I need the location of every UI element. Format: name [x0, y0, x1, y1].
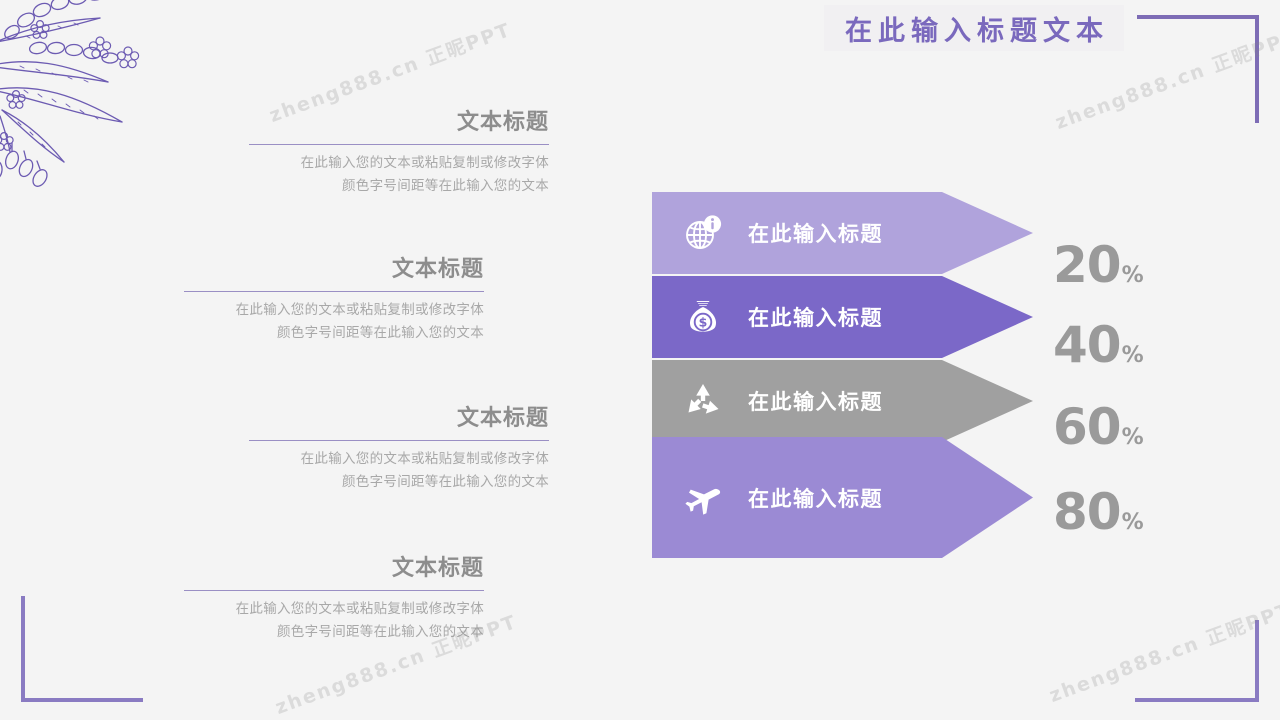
- percent-label-2: 40%: [1053, 316, 1144, 374]
- text-block-3: 文本标题 在此输入您的文本或粘贴复制或修改字体 颜色字号间距等在此输入您的文本: [249, 406, 549, 493]
- percent-label-1: 20%: [1053, 236, 1144, 294]
- text-block-3-line-1: 在此输入您的文本或粘贴复制或修改字体: [249, 448, 549, 470]
- text-block-2-title: 文本标题: [184, 257, 484, 283]
- recycle-icon: [680, 378, 726, 424]
- arrow-label-4: 在此输入标题: [748, 483, 883, 513]
- watermark-4: zheng888.cn 正昵PPT: [1045, 595, 1280, 708]
- text-block-4-divider: [184, 590, 484, 591]
- corner-bracket-top-right-vertical: [1255, 15, 1259, 123]
- money-bag-icon: $: [680, 294, 726, 340]
- corner-bracket-bottom-left-horizontal: [21, 698, 143, 702]
- page-title-container: 在此输入标题文本: [824, 5, 1124, 51]
- text-block-1: 文本标题 在此输入您的文本或粘贴复制或修改字体 颜色字号间距等在此输入您的文本: [249, 110, 549, 197]
- slide-canvas: 在此输入标题文本 文本标题 在此输入您的文本或粘贴复制或修改字体 颜色字号间距等…: [0, 0, 1280, 720]
- percent-value-2: 40: [1053, 316, 1121, 374]
- text-block-3-line-2: 颜色字号间距等在此输入您的文本: [249, 471, 549, 493]
- arrow-label-2: 在此输入标题: [748, 302, 883, 332]
- text-block-2-divider: [184, 291, 484, 292]
- floral-decoration-icon: [0, 0, 212, 200]
- percent-label-3: 60%: [1053, 398, 1144, 456]
- svg-text:$: $: [699, 315, 708, 330]
- arrow-row-4[interactable]: 在此输入标题: [652, 437, 1033, 558]
- text-block-1-line-1: 在此输入您的文本或粘贴复制或修改字体: [249, 152, 549, 174]
- text-block-4-line-1: 在此输入您的文本或粘贴复制或修改字体: [184, 598, 484, 620]
- percent-sign-2: %: [1122, 343, 1144, 368]
- text-block-2-line-1: 在此输入您的文本或粘贴复制或修改字体: [184, 299, 484, 321]
- percent-sign-3: %: [1122, 425, 1144, 450]
- globe-info-icon: [680, 210, 726, 256]
- percent-label-4: 80%: [1053, 483, 1144, 541]
- corner-bracket-bottom-right-vertical: [1255, 620, 1259, 702]
- text-block-4: 文本标题 在此输入您的文本或粘贴复制或修改字体 颜色字号间距等在此输入您的文本: [184, 556, 484, 643]
- text-block-4-line-2: 颜色字号间距等在此输入您的文本: [184, 621, 484, 643]
- arrow-row-3[interactable]: 在此输入标题: [652, 360, 1033, 442]
- text-block-1-line-2: 颜色字号间距等在此输入您的文本: [249, 175, 549, 197]
- text-block-2-line-2: 颜色字号间距等在此输入您的文本: [184, 322, 484, 344]
- percent-sign-4: %: [1122, 510, 1144, 535]
- airplane-icon: [680, 475, 726, 521]
- arrow-label-1: 在此输入标题: [748, 218, 883, 248]
- percent-value-1: 20: [1053, 236, 1121, 294]
- percent-value-4: 80: [1053, 483, 1121, 541]
- corner-bracket-bottom-left-vertical: [21, 596, 25, 702]
- corner-bracket-top-right-horizontal: [1137, 15, 1259, 19]
- text-block-1-divider: [249, 144, 549, 145]
- text-block-3-divider: [249, 440, 549, 441]
- text-block-2: 文本标题 在此输入您的文本或粘贴复制或修改字体 颜色字号间距等在此输入您的文本: [184, 257, 484, 344]
- corner-bracket-bottom-right-horizontal: [1135, 698, 1259, 702]
- arrow-row-2[interactable]: $ 在此输入标题: [652, 276, 1033, 358]
- text-block-1-title: 文本标题: [249, 110, 549, 136]
- percent-sign-1: %: [1122, 263, 1144, 288]
- text-block-4-title: 文本标题: [184, 556, 484, 582]
- arrow-row-1[interactable]: 在此输入标题: [652, 192, 1033, 274]
- page-title: 在此输入标题文本: [839, 9, 1109, 48]
- arrow-label-3: 在此输入标题: [748, 386, 883, 416]
- text-block-3-title: 文本标题: [249, 406, 549, 432]
- percent-value-3: 60: [1053, 398, 1121, 456]
